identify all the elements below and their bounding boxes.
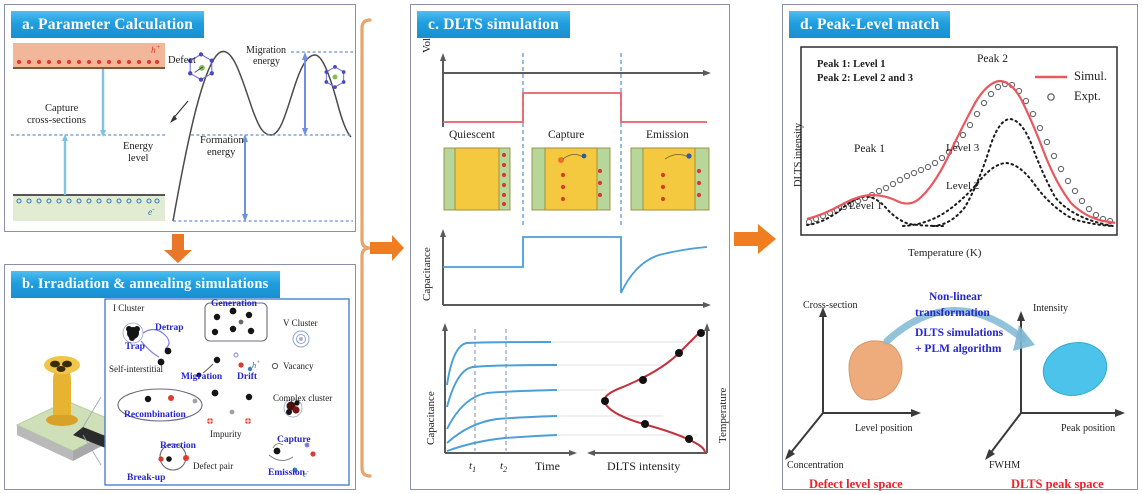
panel-a-parameter-calculation: a. Parameter Calculation (4, 4, 356, 232)
label-complex-cluster: Complex cluster (273, 393, 332, 403)
label-level3: Level 3 (946, 142, 979, 154)
label-reaction: Reaction (160, 441, 196, 451)
legend-label-expt: Expt. (1074, 89, 1101, 104)
axis-label-intensity: Intensity (1033, 303, 1068, 314)
label-hole-symbol: h+ (151, 43, 160, 56)
annotation-peak1-level1: Peak 1: Level 1 (817, 59, 886, 70)
label-defect-pair: Defect pair (193, 461, 233, 471)
label-detrap: Detrap (155, 323, 184, 333)
axis-label-level-position: Level position (855, 423, 913, 434)
label-transformation: transformation (915, 307, 990, 319)
axis-label-temperature: Temperature (717, 388, 729, 443)
phase-label-capture: Capture (548, 129, 584, 141)
label-nonlinear: Non-linear (929, 291, 982, 303)
label-hole: h+ (252, 360, 260, 370)
axis-label-dlts-intensity: DLTS intensity (793, 123, 804, 187)
label-capture: Capture (45, 103, 78, 114)
label-peak1: Peak 1 (854, 143, 885, 155)
axis-label-capacitance-2: Capacitance (425, 391, 437, 445)
arrow-c-to-d (734, 222, 778, 258)
label-plm-algorithm: + PLM algorithm (915, 343, 1001, 355)
arrow-a-to-b (162, 234, 194, 264)
device-emission (631, 148, 709, 210)
defect-lattice-icon-2 (324, 65, 345, 89)
label-impurity: Impurity (210, 429, 242, 439)
capacitance-transient-curve (443, 237, 707, 293)
phase-label-emission: Emission (646, 129, 689, 141)
device-capture (532, 148, 610, 210)
annotation-peak2-levels: Peak 2: Level 2 and 3 (817, 73, 913, 84)
label-peak2: Peak 2 (977, 53, 1008, 65)
label-drift: Drift (237, 372, 257, 382)
label-emission: Emission (268, 468, 305, 478)
label-generation: Generation (211, 299, 257, 309)
label-electron-symbol: e- (148, 205, 155, 218)
panel-d-peak-level-match: d. Peak-Level match (782, 4, 1138, 490)
label-v-cluster: V Cluster (283, 318, 318, 328)
panel-c-title: c. DLTS simulation (417, 11, 570, 38)
label-level1: Level 1 (849, 200, 882, 212)
bracket-ab-to-c (358, 14, 406, 482)
legend-label-simul: Simul. (1074, 69, 1107, 84)
capacitance-transients (447, 342, 557, 451)
axis-label-concentration: Concentration (787, 460, 844, 471)
figure-root: a. Parameter Calculation (0, 0, 1142, 494)
axis-label-cross-section: Cross-section (803, 300, 857, 311)
label-capture: Capture (277, 435, 311, 445)
hole-dots (17, 60, 159, 64)
label-migration-energy: energy (253, 56, 280, 67)
voltage-pulse-curve (443, 93, 707, 122)
panel-b-graphic (5, 265, 355, 489)
label-self-interstitial: Self-interstitial (109, 364, 163, 374)
panel-d-title: d. Peak-Level match (789, 11, 950, 38)
label-i-cluster: I Cluster (113, 303, 144, 313)
defect-level-blob (849, 341, 902, 400)
label-break-up: Break-up (127, 473, 165, 483)
tick-label-t1: t1 (469, 460, 476, 474)
label-cross-sections: cross-sections (27, 115, 86, 126)
phase-label-quiescent: Quiescent (449, 129, 495, 141)
label-defect: Defect (168, 55, 196, 66)
dlts-peak-blob (1038, 336, 1113, 402)
caption-defect-level-space: Defect level space (809, 477, 903, 492)
label-vacancy: Vacancy (283, 361, 313, 371)
axis-label-dlts-intensity: DLTS intensity (607, 459, 680, 474)
device-quiescent (444, 148, 510, 210)
panel-a-title: a. Parameter Calculation (11, 11, 204, 38)
axis-label-peak-position: Peak position (1061, 423, 1115, 434)
label-dlts-simulations: DLTS simulations (915, 327, 1003, 339)
label-level2: Level 2 (946, 180, 979, 192)
label-migration: Migration (181, 372, 222, 382)
axis-label-fwhm: FWHM (989, 460, 1020, 471)
caption-dlts-peak-space: DLTS peak space (1011, 477, 1104, 492)
label-trap: Trap (125, 342, 145, 352)
label-recombination: Recombination (124, 410, 186, 420)
axis-label-temperature-k: Temperature (K) (908, 247, 981, 259)
tick-label-t2: t2 (500, 460, 507, 474)
valence-band (13, 43, 165, 68)
panel-b-title: b. Irradiation & annealing simulations (11, 271, 280, 298)
label-energy: Energy (123, 141, 153, 152)
panel-c-graphic (411, 5, 729, 489)
axis-label-capacitance-1: Capacitance (421, 247, 433, 301)
label-formation: Formation (200, 135, 244, 146)
label-level: level (128, 153, 148, 164)
label-formation-energy: energy (207, 147, 235, 158)
axis-label-time: Time (535, 459, 560, 474)
panel-c-dlts-simulation: c. DLTS simulation (410, 4, 730, 490)
label-migration: Migration (246, 45, 286, 56)
label-electron: e- (303, 469, 309, 479)
panel-b-irradiation-annealing: b. Irradiation & annealing simulations (4, 264, 356, 490)
